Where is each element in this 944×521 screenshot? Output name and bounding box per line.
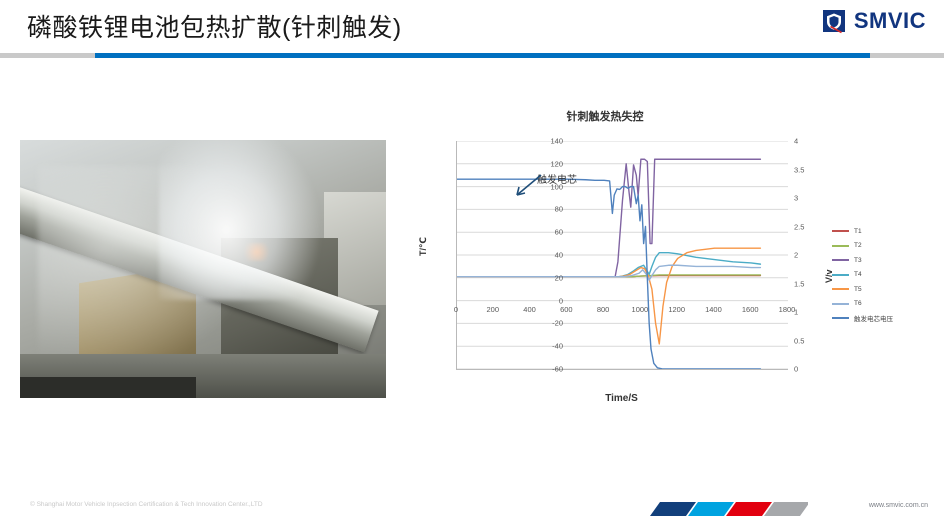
header-rule-accent: [95, 53, 870, 58]
chart-x-tick: 0: [441, 305, 471, 314]
footer-copyright: © Shanghai Motor Vehicle Inpsection Cert…: [30, 501, 263, 508]
chart-legend-label: T2: [854, 242, 862, 249]
chart-y-tick: -20: [537, 319, 563, 328]
chart-legend: T1T2T3T4T5T6触发电芯电压: [832, 224, 893, 326]
chart-x-tick: 600: [551, 305, 581, 314]
chart-y2-tick: 2: [794, 251, 820, 260]
chart-y-tick: 140: [537, 137, 563, 146]
chart-legend-item[interactable]: 触发电芯电压: [832, 311, 893, 326]
chart-x-tick: 400: [515, 305, 545, 314]
chart-legend-swatch: [832, 317, 849, 319]
chart-x-axis-label: Time/S: [456, 393, 787, 404]
chart-x-tick: 800: [588, 305, 618, 314]
chart-y2-tick: 3.5: [794, 165, 820, 174]
chart-legend-swatch: [832, 288, 849, 290]
chart-legend-label: T4: [854, 271, 862, 278]
chart-legend-item[interactable]: T1: [832, 224, 893, 239]
chart-y-tick: 20: [537, 273, 563, 282]
chart-legend-item[interactable]: T5: [832, 282, 893, 297]
chart-x-tick: 200: [478, 305, 508, 314]
brand-logo: SMVIC: [821, 8, 926, 34]
chart-legend-item[interactable]: T3: [832, 253, 893, 268]
chart-y2-tick: 0.5: [794, 336, 820, 345]
chart-y-tick: -40: [537, 342, 563, 351]
chart-legend-label: T6: [854, 300, 862, 307]
chart-y-tick: 100: [537, 182, 563, 191]
page-title: 磷酸铁锂电池包热扩散(针刺触发): [27, 8, 402, 44]
chart-y-tick: 80: [537, 205, 563, 214]
chart-x-tick: 1000: [625, 305, 655, 314]
chart-legend-item[interactable]: T4: [832, 268, 893, 283]
chart-legend-swatch: [832, 230, 849, 232]
chart-y-tick: -60: [537, 365, 563, 374]
chart-y-tick: 120: [537, 159, 563, 168]
chart-y2-tick: 4: [794, 137, 820, 146]
footer-stripe-decoration: [650, 498, 808, 518]
chart-y-tick: 60: [537, 228, 563, 237]
chart-plot-area: 触发电芯: [456, 141, 788, 370]
chart-legend-label: T3: [854, 257, 862, 264]
smvic-shield-logo-icon: [821, 8, 847, 34]
brand-name: SMVIC: [854, 8, 926, 34]
chart-legend-item[interactable]: T2: [832, 239, 893, 254]
chart-y-tick: 40: [537, 251, 563, 260]
footer-url[interactable]: www.smvic.com.cn: [869, 502, 928, 509]
slide: 磷酸铁锂电池包热扩散(针刺触发) SMVIC 针刺触发热失控 T: [0, 0, 944, 521]
chart-legend-label: 触发电芯电压: [854, 313, 893, 323]
chart-x-tick: 1800: [772, 305, 802, 314]
chart-title: 针刺触发热失控: [420, 108, 790, 124]
chart-y2-tick: 2.5: [794, 222, 820, 231]
chart-y2-tick: 3: [794, 194, 820, 203]
chart-x-tick: 1400: [698, 305, 728, 314]
chart-legend-swatch: [832, 274, 849, 276]
chart-y2-tick: 1.5: [794, 279, 820, 288]
test-photo: [20, 140, 386, 398]
photo-shadow: [20, 377, 196, 398]
chart-legend-swatch: [832, 303, 849, 305]
chart-legend-swatch: [832, 259, 849, 261]
chart-legend-swatch: [832, 245, 849, 247]
chart-legend-label: T1: [854, 228, 862, 235]
thermal-runaway-chart: 针刺触发热失控 T/℃ V/v Time/S 触发电芯 140120100806…: [420, 108, 932, 420]
chart-y2-tick: 0: [794, 365, 820, 374]
chart-legend-label: T5: [854, 286, 862, 293]
chart-x-tick: 1200: [662, 305, 692, 314]
chart-legend-item[interactable]: T6: [832, 297, 893, 312]
chart-x-tick: 1600: [735, 305, 765, 314]
chart-y-axis-label: T/℃: [418, 237, 429, 256]
photo-smoke-plume: [159, 140, 320, 300]
